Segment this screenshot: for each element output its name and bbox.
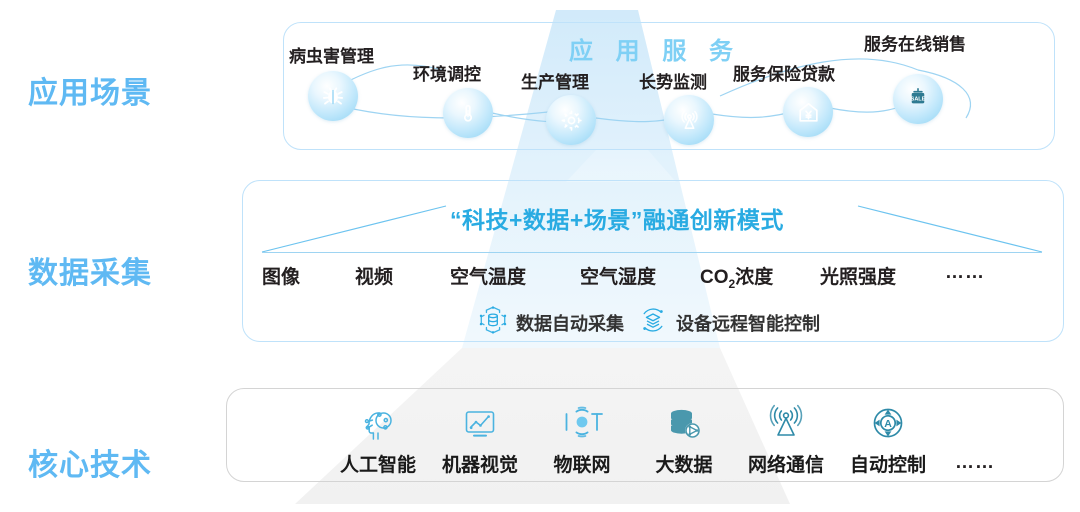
tech-item-1-label: 机器视觉 (432, 450, 528, 477)
tech-item-4[interactable]: 网络通信 (738, 400, 834, 477)
svg-text:A: A (884, 418, 892, 430)
tech-item-2-label: 物联网 (534, 450, 630, 477)
big-data-icon (636, 400, 732, 446)
tech-item-5[interactable]: A 自动控制 (840, 400, 936, 477)
iot-icon (534, 400, 630, 446)
ai-head-icon (330, 400, 426, 446)
tech-item-3-label: 大数据 (636, 450, 732, 477)
auto-control-icon: A (840, 400, 936, 446)
network-tower-icon (738, 400, 834, 446)
technology-ellipsis: …… (955, 452, 995, 474)
tech-item-1[interactable]: 机器视觉 (432, 400, 528, 477)
technology-row: 人工智能 机器视觉 (0, 0, 1080, 512)
tech-item-4-label: 网络通信 (738, 450, 834, 477)
tech-item-3[interactable]: 大数据 (636, 400, 732, 477)
vision-monitor-icon (432, 400, 528, 446)
tech-item-5-label: 自动控制 (840, 450, 936, 477)
tech-item-0-label: 人工智能 (330, 450, 426, 477)
infographic-diagram: 应用场景 数据采集 核心技术 病虫害管理 (0, 0, 1080, 512)
tech-item-0[interactable]: 人工智能 (330, 400, 426, 477)
tech-item-2[interactable]: 物联网 (534, 400, 630, 477)
